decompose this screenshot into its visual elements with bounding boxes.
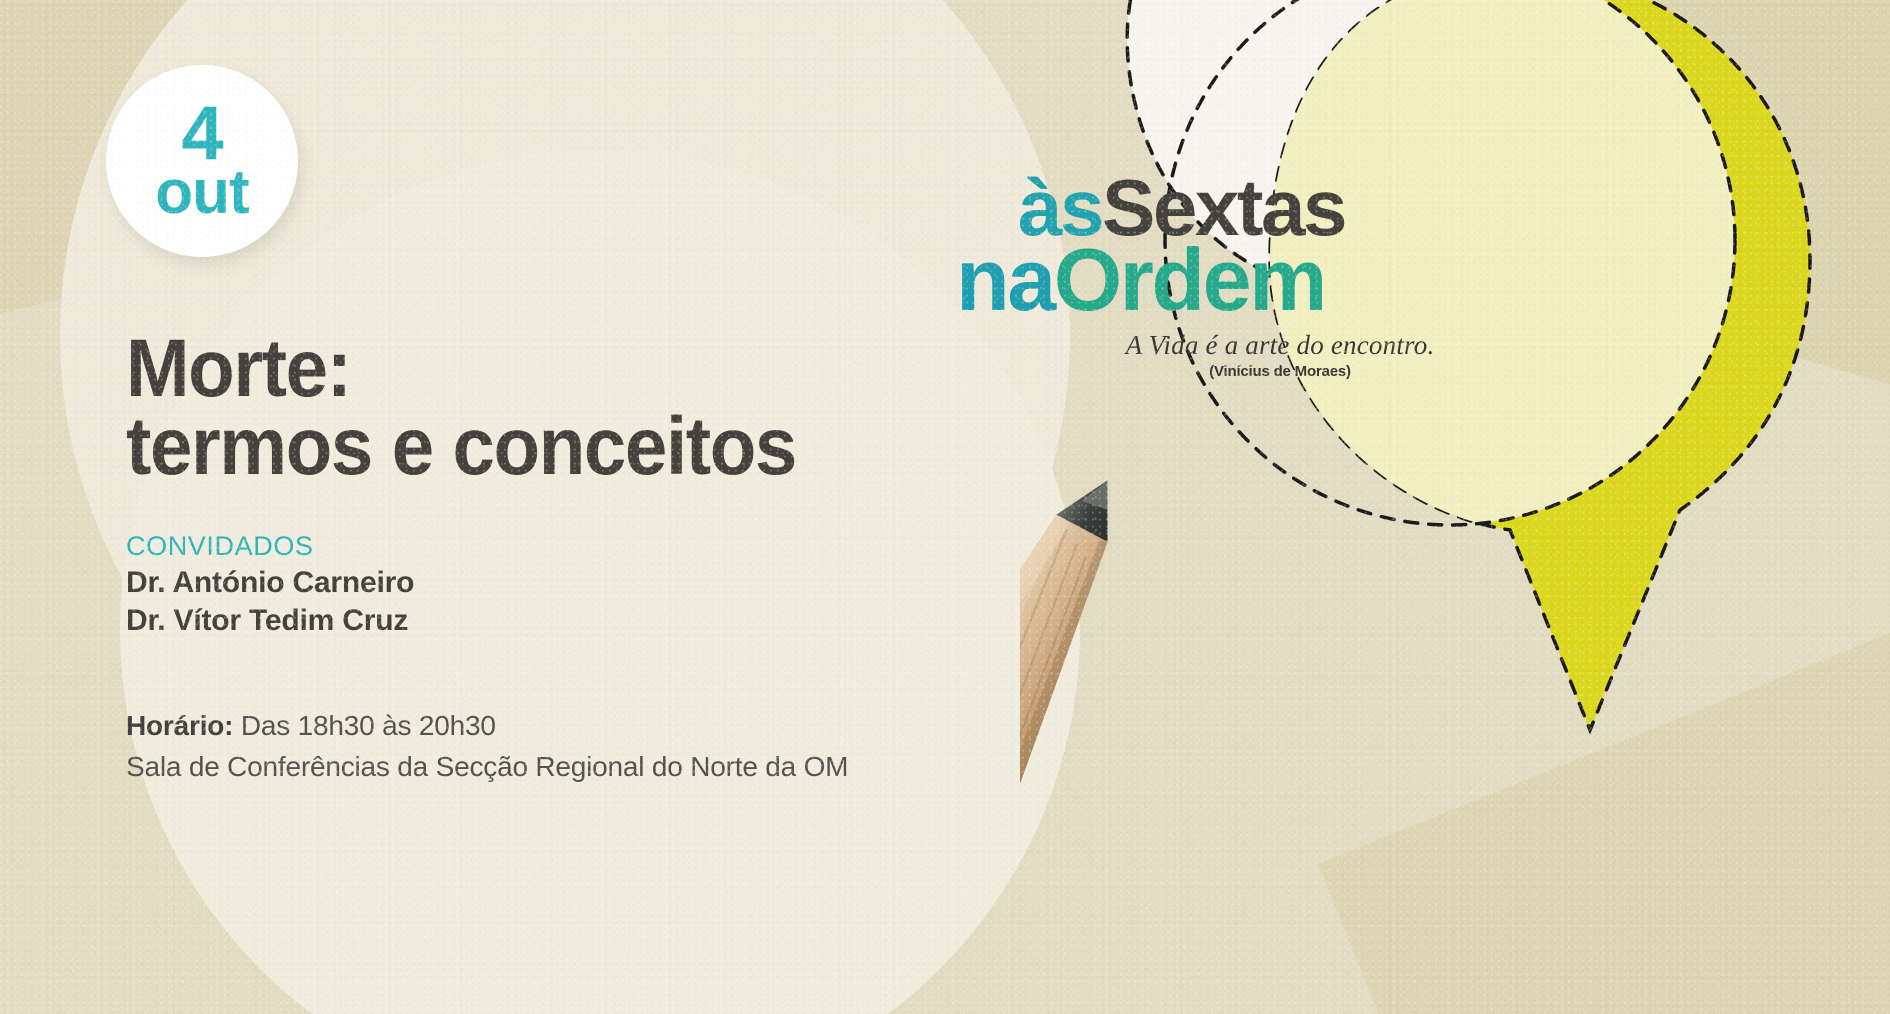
- logo-row-two: naOrdem: [956, 236, 1325, 324]
- date-badge: 4 out: [106, 65, 298, 257]
- page-title: Morte: termos e conceitos: [126, 330, 1037, 486]
- guests-block: CONVIDADOS Dr. António Carneiro Dr. Víto…: [126, 530, 1106, 641]
- poster-canvas: 4 out Morte: termos e conceitos CONVIDAD…: [0, 0, 1890, 1014]
- schedule-label: Horário:: [126, 710, 233, 741]
- schedule-line: Horário: Das 18h30 às 20h30: [126, 706, 1106, 747]
- date-month: out: [155, 168, 248, 219]
- event-copy-block: Morte: termos e conceitos CONVIDADOS Dr.…: [126, 330, 1106, 788]
- guests-label: CONVIDADOS: [126, 530, 1106, 564]
- guest-name: Dr. António Carneiro: [126, 564, 1106, 602]
- logo-tagline: A Vida é a arte do encontro.: [1070, 330, 1490, 361]
- venue-line: Sala de Conferências da Secção Regional …: [126, 747, 1106, 788]
- logo-word-ordem: Ordem: [1054, 230, 1325, 329]
- title-line-2: termos e conceitos: [126, 408, 1037, 486]
- brand-logo-wordmark: àsSextas naOrdem: [1000, 168, 1700, 428]
- guest-name: Dr. Vítor Tedim Cruz: [126, 602, 1106, 640]
- pencil-icon: [1020, 470, 1440, 1014]
- date-day: 4: [181, 103, 222, 165]
- logo-tagline-credit: (Vinícius de Moraes): [1070, 363, 1490, 380]
- logo-word-na: na: [956, 230, 1054, 329]
- schedule-value: Das 18h30 às 20h30: [241, 710, 496, 741]
- details-block: Horário: Das 18h30 às 20h30 Sala de Conf…: [126, 706, 1106, 787]
